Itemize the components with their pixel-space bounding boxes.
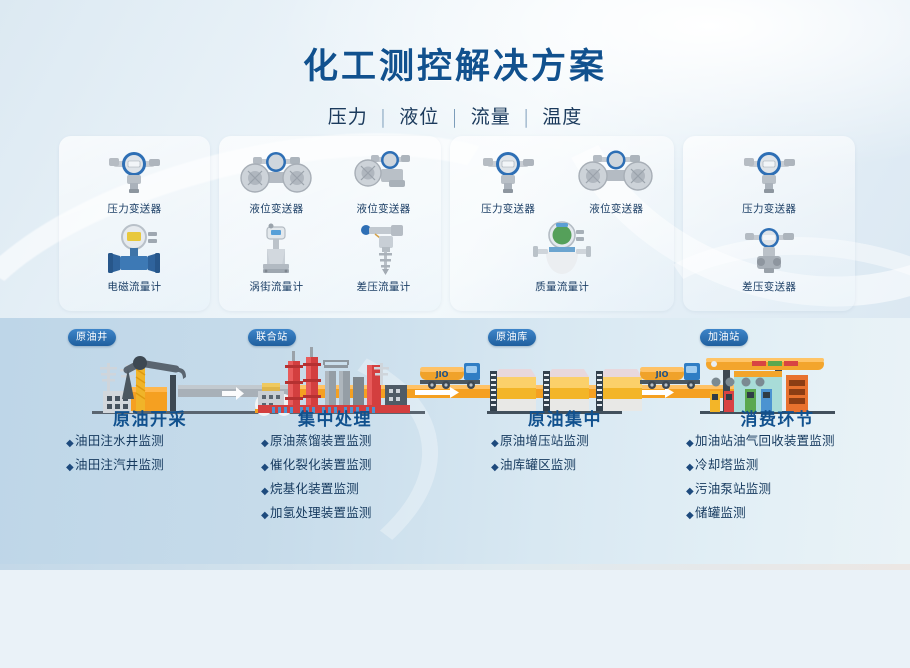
stage-badge-4: 加油站	[700, 329, 748, 346]
list-item: ◆ 催化裂化装置监测	[261, 458, 451, 473]
svg-text:JIO: JIO	[435, 370, 449, 379]
bullet-column-2: ◆ 原油蒸馏装置监测 ◆ 催化裂化装置监测 ◆ 烷基化装置监测 ◆ 加氢处理装置…	[261, 434, 451, 530]
bullet-label: 催化裂化装置监测	[270, 458, 372, 472]
bullet-diamond-icon: ◆	[261, 487, 270, 497]
product-label: 压力变送器	[107, 201, 161, 216]
list-item: ◆ 原油蒸馏装置监测	[261, 434, 451, 449]
bullet-diamond-icon: ◆	[261, 463, 270, 473]
product-item[interactable]: 液位变送器	[330, 144, 437, 222]
product-item[interactable]: 压力变送器	[454, 144, 562, 222]
list-item: ◆ 加油站油气回收装置监测	[686, 434, 896, 449]
pressure-transmitter-icon	[740, 144, 798, 199]
product-card-1[interactable]: 压力变送器	[59, 136, 210, 311]
product-item[interactable]: 压力变送器	[687, 144, 851, 222]
stage-badge-3: 原油库	[488, 329, 536, 346]
product-item[interactable]: 差压变送器	[687, 222, 851, 300]
bullet-column-4: ◆ 加油站油气回收装置监测 ◆ 冷却塔监测 ◆ 污油泵站监测 ◆ 储罐监测	[686, 434, 896, 530]
bullet-diamond-icon: ◆	[686, 487, 695, 497]
page-subtitle: 压力 | 液位 | 流量 | 温度	[0, 102, 910, 129]
product-label: 差压流量计	[357, 279, 411, 294]
stage-badge-2: 联合站	[248, 329, 296, 346]
product-item[interactable]: 液位变送器	[223, 144, 330, 222]
product-label: 质量流量计	[535, 279, 589, 294]
product-label: 液位变送器	[249, 201, 303, 216]
bullet-label: 油田注水井监测	[75, 434, 164, 448]
bullet-diamond-icon: ◆	[261, 511, 270, 521]
bullet-label: 油库罐区监测	[500, 458, 576, 472]
level-transmitter-single-flange-icon	[351, 144, 417, 199]
bullet-label: 污油泵站监测	[695, 482, 771, 496]
list-item: ◆ 冷却塔监测	[686, 458, 896, 473]
bullet-diamond-icon: ◆	[66, 463, 75, 473]
bullet-label: 冷却塔监测	[695, 458, 759, 472]
pressure-transmitter-icon	[479, 144, 537, 199]
product-label: 涡街流量计	[249, 279, 303, 294]
subtitle-part-flow: 流量	[471, 106, 511, 128]
subtitle-part-pressure: 压力	[328, 106, 368, 128]
subtitle-part-temperature: 温度	[542, 106, 582, 128]
bullet-diamond-icon: ◆	[686, 439, 695, 449]
product-label: 差压变送器	[742, 279, 796, 294]
product-item[interactable]: 压力变送器	[63, 144, 206, 222]
list-item: ◆ 储罐监测	[686, 506, 896, 521]
list-item: ◆ 油田注水井监测	[66, 434, 251, 449]
product-card-3[interactable]: 压力变送器	[450, 136, 674, 311]
stage-title-1: 原油开采	[60, 405, 240, 430]
stage-title-3: 原油集中	[470, 405, 660, 430]
vortex-flowmeter-icon	[250, 222, 302, 277]
product-label: 液位变送器	[589, 201, 643, 216]
page-title: 化工测控解决方案	[0, 38, 910, 89]
stage-title-2: 集中处理	[240, 405, 430, 430]
subtitle-separator: |	[380, 106, 387, 128]
differential-pressure-transmitter-icon	[739, 222, 799, 277]
stage-badge-1: 原油井	[68, 329, 116, 346]
product-item[interactable]: 电磁流量计	[63, 222, 206, 300]
bullet-column-1: ◆ 油田注水井监测 ◆ 油田注汽井监测	[66, 434, 251, 482]
list-item: ◆ 加氢处理装置监测	[261, 506, 451, 521]
list-item: ◆ 油田注汽井监测	[66, 458, 251, 473]
product-label: 液位变送器	[357, 201, 411, 216]
product-card-row: 压力变送器	[59, 136, 855, 311]
list-item: ◆ 污油泵站监测	[686, 482, 896, 497]
list-item: ◆ 烷基化装置监测	[261, 482, 451, 497]
bullet-label: 原油增压站监测	[500, 434, 589, 448]
subtitle-separator: |	[451, 106, 458, 128]
mass-flowmeter-icon	[529, 222, 595, 277]
bullet-diamond-icon: ◆	[491, 463, 500, 473]
bullet-column-3: ◆ 原油增压站监测 ◆ 油库罐区监测	[491, 434, 681, 482]
bullet-diamond-icon: ◆	[491, 439, 500, 449]
bullet-label: 加油站油气回收装置监测	[695, 434, 835, 448]
product-item[interactable]: 差压流量计	[330, 222, 437, 300]
level-transmitter-flange-icon	[238, 144, 314, 199]
bullet-label: 储罐监测	[695, 506, 746, 520]
bullet-label: 加氢处理装置监测	[270, 506, 372, 520]
bullet-label: 烷基化装置监测	[270, 482, 359, 496]
differential-pressure-flowmeter-icon	[355, 222, 413, 277]
product-label: 压力变送器	[481, 201, 535, 216]
product-label: 电磁流量计	[107, 279, 161, 294]
infographic-page: 化工测控解决方案 压力 | 液位 | 流量 | 温度	[0, 0, 910, 570]
svg-text:JIO: JIO	[655, 370, 669, 379]
list-item: ◆ 原油增压站监测	[491, 434, 681, 449]
bullet-label: 原油蒸馏装置监测	[270, 434, 372, 448]
subtitle-separator: |	[523, 106, 530, 128]
electromagnetic-flowmeter-icon	[104, 222, 164, 277]
product-item[interactable]: 涡街流量计	[223, 222, 330, 300]
bullet-diamond-icon: ◆	[686, 511, 695, 521]
product-card-2[interactable]: 液位变送器	[219, 136, 441, 311]
bullet-diamond-icon: ◆	[261, 439, 270, 449]
product-item[interactable]: 质量流量计	[454, 222, 670, 300]
bullet-label: 油田注汽井监测	[75, 458, 164, 472]
subtitle-part-level: 液位	[399, 106, 439, 128]
bullet-diamond-icon: ◆	[686, 463, 695, 473]
pressure-transmitter-icon	[105, 144, 163, 199]
product-label: 压力变送器	[742, 201, 796, 216]
list-item: ◆ 油库罐区监测	[491, 458, 681, 473]
bullet-diamond-icon: ◆	[66, 439, 75, 449]
stage-title-4: 消费环节	[690, 405, 865, 430]
footer-divider	[0, 564, 910, 570]
product-card-4[interactable]: 压力变送器	[683, 136, 855, 311]
level-transmitter-flange-icon	[576, 144, 656, 199]
product-item[interactable]: 液位变送器	[562, 144, 670, 222]
header: 化工测控解决方案 压力 | 液位 | 流量 | 温度	[0, 38, 910, 129]
